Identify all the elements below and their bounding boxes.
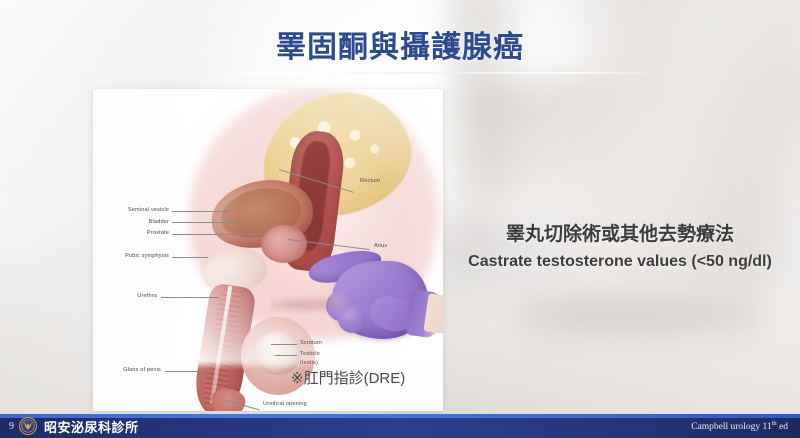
page-title: 睪固酮與攝護腺癌 — [0, 22, 800, 66]
leader-line-prostate — [172, 234, 262, 235]
anatomy-illustration: Seminal vesicle Bladder Prostate Pubic s… — [93, 89, 443, 411]
content-text-block: 睪丸切除術或其他去勢療法 Castrate testosterone value… — [452, 222, 788, 273]
label-pubic-symphysis: Pubic symphysis — [93, 253, 169, 261]
reference-main: Campbell urology 11 — [691, 422, 771, 432]
leader-line-testicle — [275, 355, 297, 356]
label-prostate: Prostate — [93, 230, 169, 238]
clinic-name: 昭安泌尿科診所 — [44, 417, 139, 436]
source-reference: Campbell urology 11th ed — [691, 420, 788, 432]
leader-line-urethra — [161, 297, 219, 298]
label-glans-of-penis: Glans of penis — [93, 367, 161, 375]
leader-line-pubic-symphysis — [172, 257, 208, 258]
label-seminal-vesicle: Seminal vesicle — [93, 207, 169, 215]
title-divider — [200, 72, 660, 74]
label-rectum: Rectum — [360, 178, 380, 186]
background-objects-blur — [520, 280, 760, 350]
leader-line-glans — [165, 371, 207, 372]
dre-caption: ※肛門指診(DRE) — [291, 367, 405, 388]
slide-root: 睪固酮與攝護腺癌 — [0, 0, 800, 438]
artist-signature — [271, 294, 351, 316]
label-urethra: Urethra — [93, 293, 157, 301]
label-bladder: Bladder — [93, 219, 169, 227]
anatomy-image-panel: Seminal vesicle Bladder Prostate Pubic s… — [93, 89, 443, 411]
footer-bar: 9 昭安泌尿科診所 Campbell urology 11th ed — [0, 414, 800, 438]
content-heading-cn: 睪丸切除術或其他去勢療法 — [452, 222, 788, 248]
label-anus: Anus — [374, 243, 387, 251]
footer-top-strip — [0, 414, 800, 418]
label-scrotum: Scrotum — [300, 340, 322, 348]
leader-line-scrotum — [271, 344, 297, 345]
leader-line-bladder — [172, 222, 242, 223]
label-urethral-opening: Urethral opening — [263, 401, 307, 409]
page-number: 9 — [9, 421, 14, 432]
reference-tail: ed — [777, 422, 788, 432]
content-heading-en: Castrate testosterone values (<50 ng/dl) — [452, 250, 788, 273]
clinic-logo-icon — [19, 417, 37, 435]
leader-line-seminal-vesicle — [172, 211, 230, 212]
label-testicle: Testicle — [300, 351, 320, 359]
